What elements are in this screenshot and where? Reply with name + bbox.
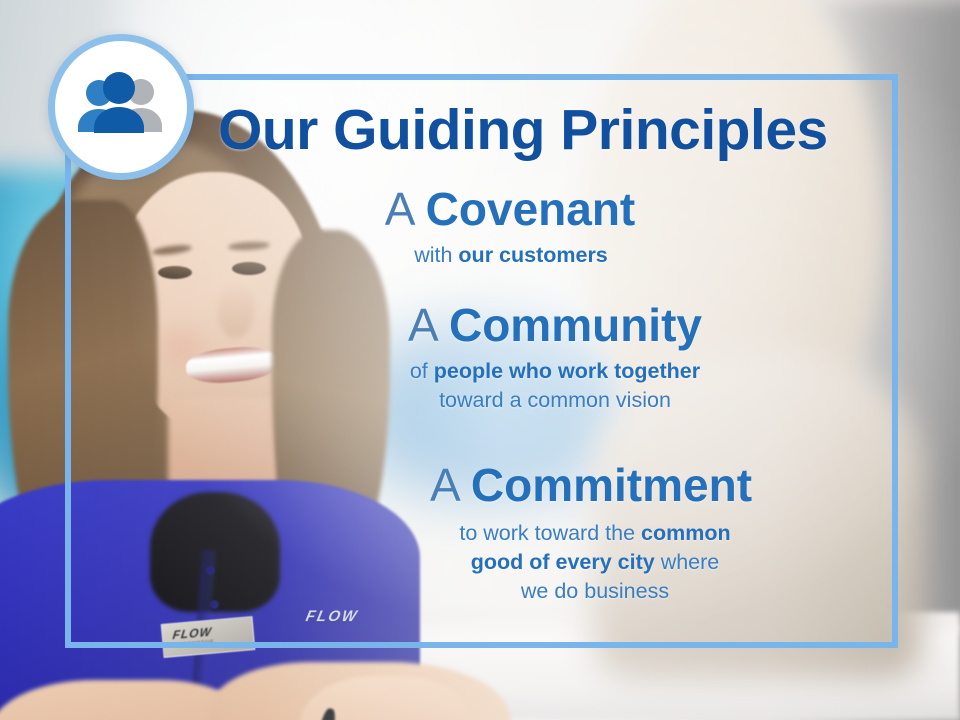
page-title: Our Guiding Principles <box>218 97 828 163</box>
principle-community-heading: A Community <box>0 302 960 349</box>
principle-community-keyword: Community <box>449 299 702 351</box>
principle-commitment-subtext: to work toward the common good of every … <box>0 519 960 606</box>
principle-covenant-heading: A Covenant <box>0 186 960 233</box>
people-group-icon <box>73 72 169 142</box>
principle-community: A Community of people who work together … <box>0 302 960 415</box>
principle-commitment-heading: A Commitment <box>0 462 960 509</box>
principle-commitment-keyword: Commitment <box>471 459 752 511</box>
principle-community-subtext: of people who work together toward a com… <box>0 357 960 415</box>
covenant-sub-bold: our customers <box>458 243 607 267</box>
covenant-sub-prefix: with <box>414 243 458 267</box>
principle-commitment-lead: A <box>430 459 458 511</box>
commitment-sub-line2-bold: good of every city <box>471 550 655 574</box>
commitment-sub-line3: we do business <box>521 579 669 603</box>
commitment-sub-bold: common <box>641 521 731 545</box>
commitment-sub-line2-suffix: where <box>655 550 720 574</box>
community-sub-line2: toward a common vision <box>439 388 671 412</box>
community-sub-bold: people who work together <box>434 359 700 383</box>
guiding-principles-banner: FLOW FLOW AUTOMOTIVE Our Guiding <box>0 0 960 720</box>
principle-covenant-lead: A <box>385 183 413 235</box>
people-group-badge <box>48 34 194 180</box>
principle-community-lead: A <box>408 299 436 351</box>
commitment-sub-prefix: to work toward the <box>459 521 641 545</box>
polo-chest-logo: FLOW <box>304 608 360 625</box>
principle-commitment: A Commitment to work toward the common g… <box>0 462 960 606</box>
principle-covenant: A Covenant with our customers <box>0 186 960 270</box>
principle-covenant-subtext: with our customers <box>0 241 960 270</box>
principle-covenant-keyword: Covenant <box>426 183 636 235</box>
community-sub-prefix: of <box>410 359 434 383</box>
